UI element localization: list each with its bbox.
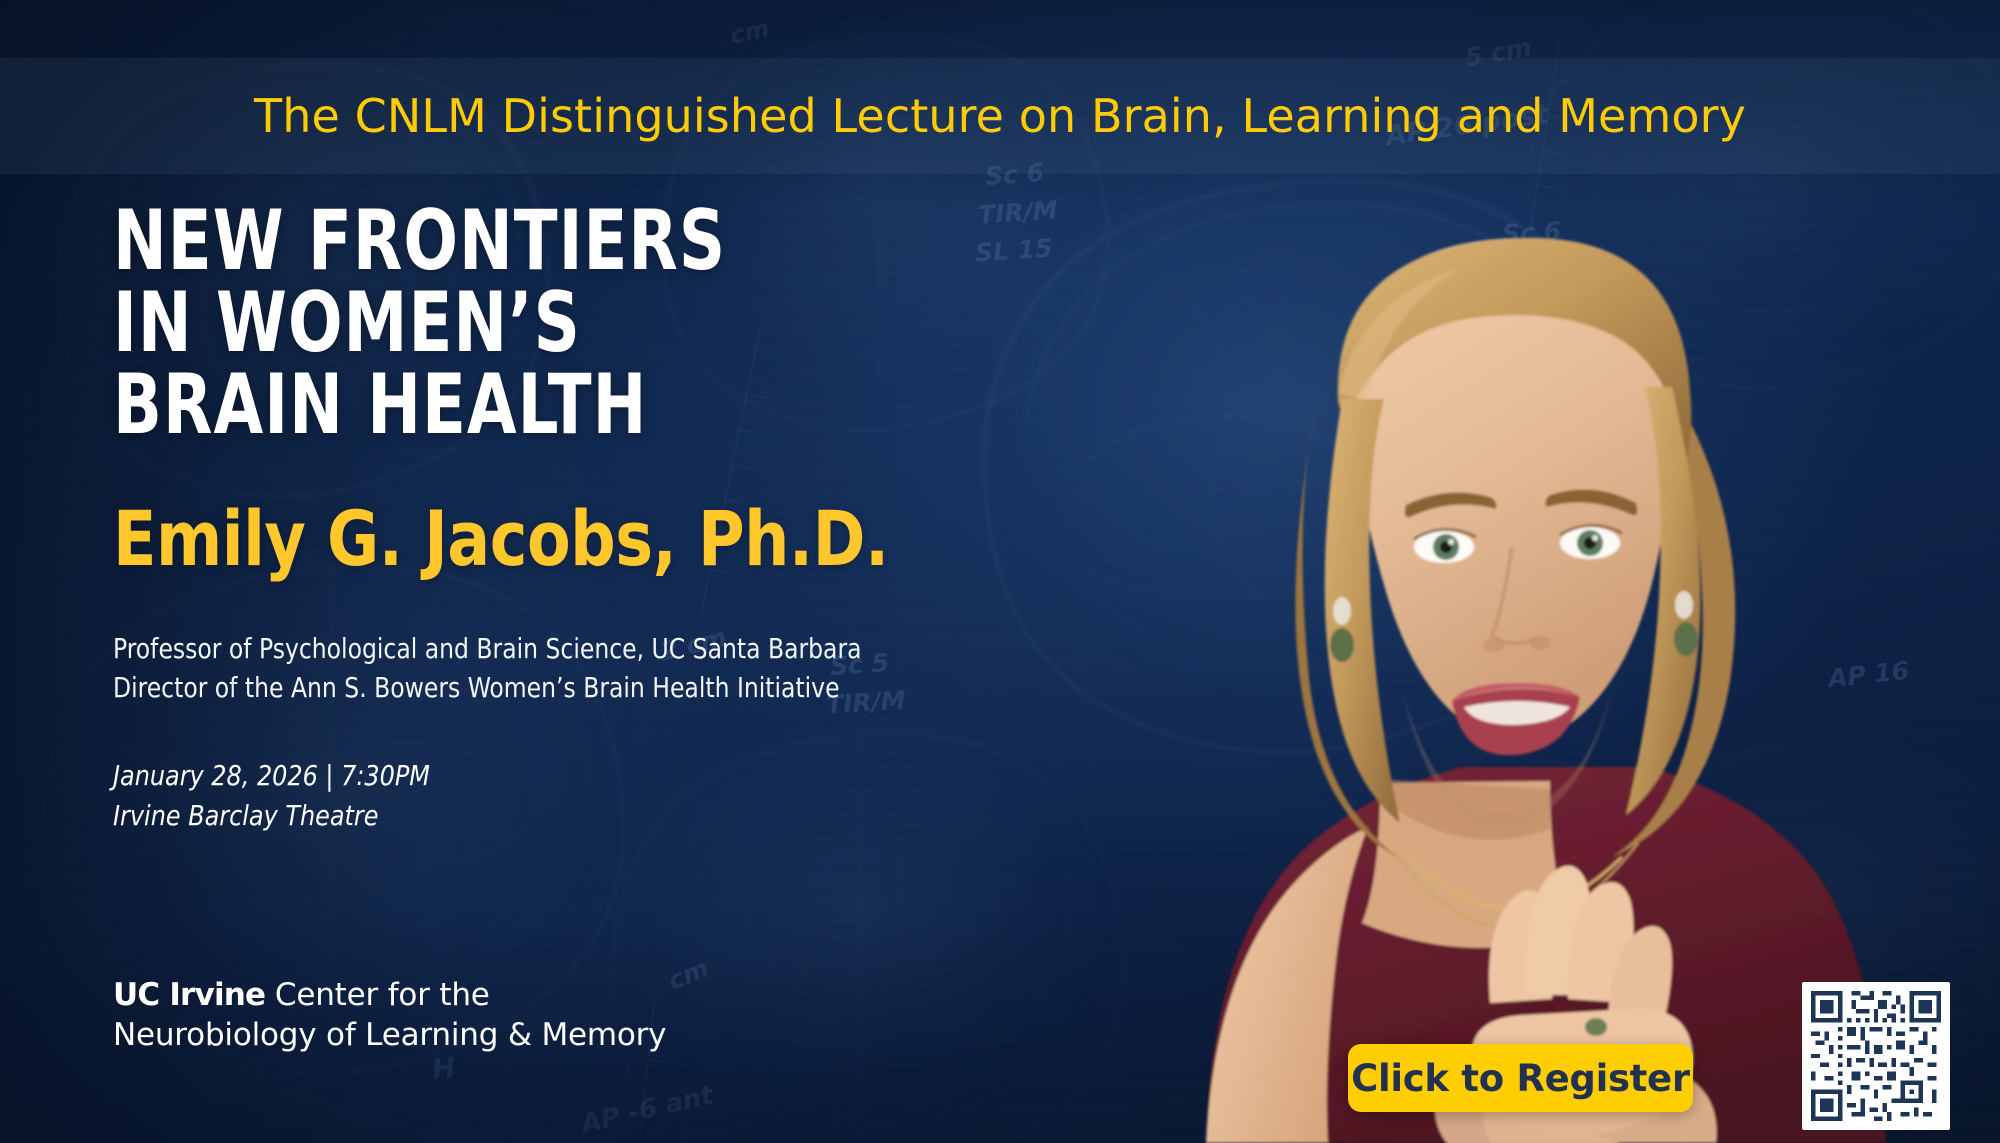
lecture-promo-banner: AP 26 post Sc 6 TIR/M SL 15 5 cm Sc 6 TI… (0, 0, 2000, 1143)
title-line-1: NEW FRONTIERS (113, 200, 887, 282)
page-title: NEW FRONTIERS IN WOMEN’S BRAIN HEALTH (113, 200, 887, 445)
speaker-name: Emily G. Jacobs, Ph.D. (113, 501, 950, 577)
uci-cnlm-logo: UC Irvine Center for the Neurobiology of… (113, 975, 666, 1056)
register-button[interactable]: Click to Register (1348, 1044, 1693, 1112)
title-line-3: BRAIN HEALTH (113, 364, 887, 446)
event-details: January 28, 2026 | 7:30PM Irvine Barclay… (113, 756, 968, 836)
affiliation-line-2: Director of the Ann S. Bowers Women’s Br… (113, 669, 968, 708)
logo-line-1-rest: Center for the (265, 977, 489, 1013)
mri-label-ap16: AP 16 (1827, 656, 1911, 693)
title-line-2: IN WOMEN’S (113, 282, 887, 364)
mri-label-ap6ant: AP -6 ant (578, 1080, 716, 1140)
logo-line-2: Neurobiology of Learning & Memory (113, 1015, 666, 1055)
mri-label-h-a: H (430, 1051, 457, 1086)
mri-label-cm-b: cm (728, 14, 772, 50)
uc-irvine-wordmark: UC Irvine (113, 977, 265, 1013)
mri-label-sl14: SL 14 (1494, 292, 1573, 325)
qr-code[interactable] (1802, 982, 1950, 1130)
affiliation-line-1: Professor of Psychological and Brain Sci… (113, 630, 968, 669)
event-venue: Irvine Barclay Theatre (113, 796, 968, 836)
mri-label-cm-a: cm (664, 953, 713, 995)
mri-label-sc6-b: Sc 6 (1501, 216, 1561, 248)
logo-line-1: UC Irvine Center for the (113, 975, 666, 1015)
mri-label-tirm-b: TIR/M (1497, 254, 1578, 287)
event-date: January 28, 2026 | 7:30PM (113, 756, 968, 796)
content-column: NEW FRONTIERS IN WOMEN’S BRAIN HEALTH Em… (113, 200, 1013, 836)
lecture-series-title: The CNLM Distinguished Lecture on Brain,… (0, 58, 2000, 174)
speaker-affiliation: Professor of Psychological and Brain Sci… (113, 630, 968, 708)
